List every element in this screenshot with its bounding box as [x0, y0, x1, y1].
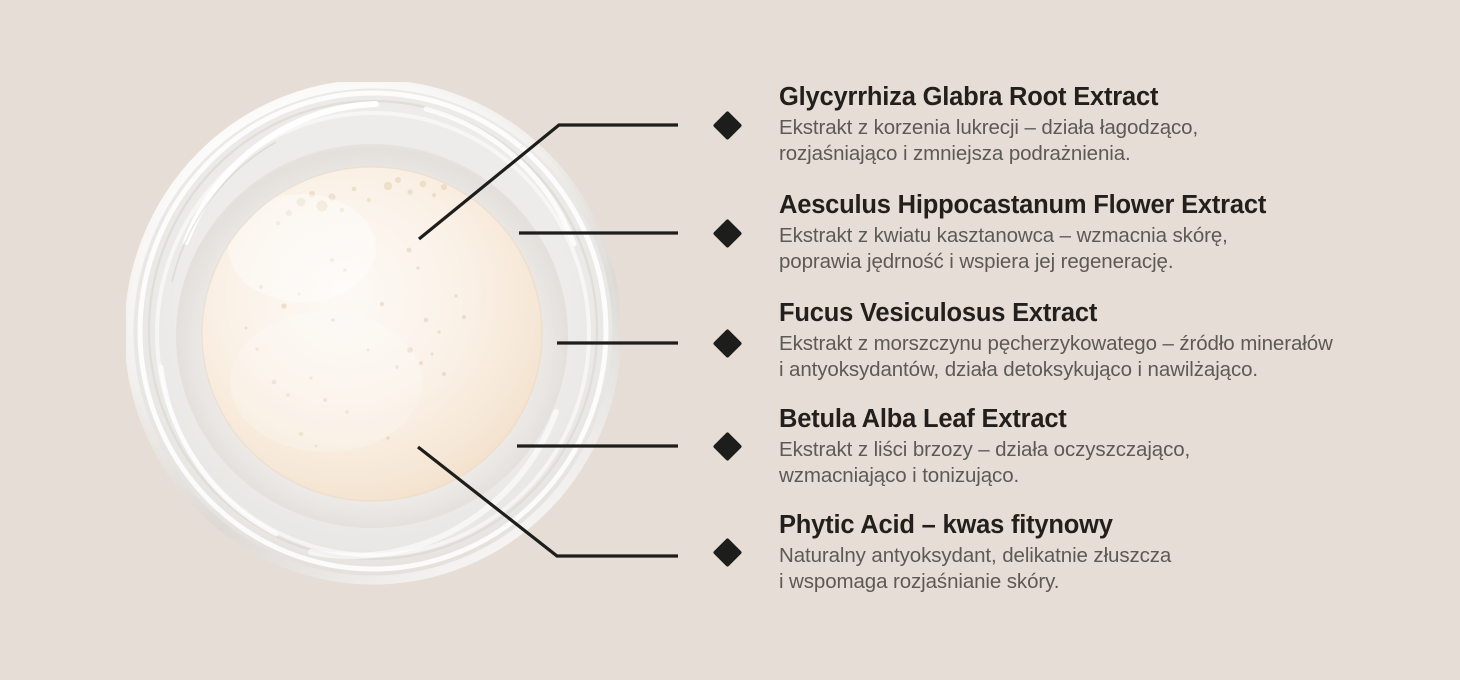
petri-dish-illustration — [126, 82, 620, 586]
diamond-bullet-icon — [713, 111, 743, 141]
ingredient-title: Glycyrrhiza Glabra Root Extract — [779, 82, 1439, 112]
description-line: i wspomaga rozjaśnianie skóry. — [779, 569, 1439, 595]
description-line: poprawia jędrność i wspiera jej regenera… — [779, 249, 1439, 275]
description-line: Ekstrakt z kwiatu kasztanowca – wzmacnia… — [779, 223, 1439, 249]
ingredient-text-block: Betula Alba Leaf Extract Ekstrakt z liśc… — [779, 404, 1439, 489]
ingredient-title: Betula Alba Leaf Extract — [779, 404, 1439, 434]
ingredient-description: Ekstrakt z liści brzozy – działa oczyszc… — [779, 437, 1439, 489]
ingredient-text-block: Glycyrrhiza Glabra Root Extract Ekstrakt… — [779, 82, 1439, 167]
ingredient-description: Naturalny antyoksydant, delikatnie złusz… — [779, 543, 1439, 595]
ingredient-description: Ekstrakt z korzenia lukrecji – działa ła… — [779, 115, 1439, 167]
description-line: rozjaśniająco i zmniejsza podrażnienia. — [779, 141, 1439, 167]
diamond-bullet-icon — [713, 329, 743, 359]
description-line: i antyoksydantów, działa detoksykująco i… — [779, 357, 1439, 383]
description-line: Naturalny antyoksydant, delikatnie złusz… — [779, 543, 1439, 569]
description-line: Ekstrakt z liści brzozy – działa oczyszc… — [779, 437, 1439, 463]
description-line: Ekstrakt z korzenia lukrecji – działa ła… — [779, 115, 1439, 141]
ingredient-text-block: Aesculus Hippocastanum Flower Extract Ek… — [779, 190, 1439, 275]
description-line: wzmacniająco i tonizująco. — [779, 463, 1439, 489]
diamond-bullet-icon — [713, 432, 743, 462]
ingredient-text-block: Fucus Vesiculosus Extract Ekstrakt z mor… — [779, 298, 1439, 383]
ingredient-description: Ekstrakt z morszczynu pęcherzykowatego –… — [779, 331, 1439, 383]
ingredient-description: Ekstrakt z kwiatu kasztanowca – wzmacnia… — [779, 223, 1439, 275]
description-line: Ekstrakt z morszczynu pęcherzykowatego –… — [779, 331, 1439, 357]
ingredient-title: Phytic Acid – kwas fitynowy — [779, 510, 1439, 540]
ingredient-title: Fucus Vesiculosus Extract — [779, 298, 1439, 328]
diamond-bullet-icon — [713, 219, 743, 249]
diamond-bullet-icon — [713, 538, 743, 568]
petri-dish-figure — [126, 82, 620, 586]
ingredient-text-block: Phytic Acid – kwas fitynowy Naturalny an… — [779, 510, 1439, 595]
infographic-canvas: Glycyrrhiza Glabra Root Extract Ekstrakt… — [0, 0, 1460, 680]
ingredient-list: Glycyrrhiza Glabra Root Extract Ekstrakt… — [700, 0, 1460, 680]
ingredient-title: Aesculus Hippocastanum Flower Extract — [779, 190, 1439, 220]
